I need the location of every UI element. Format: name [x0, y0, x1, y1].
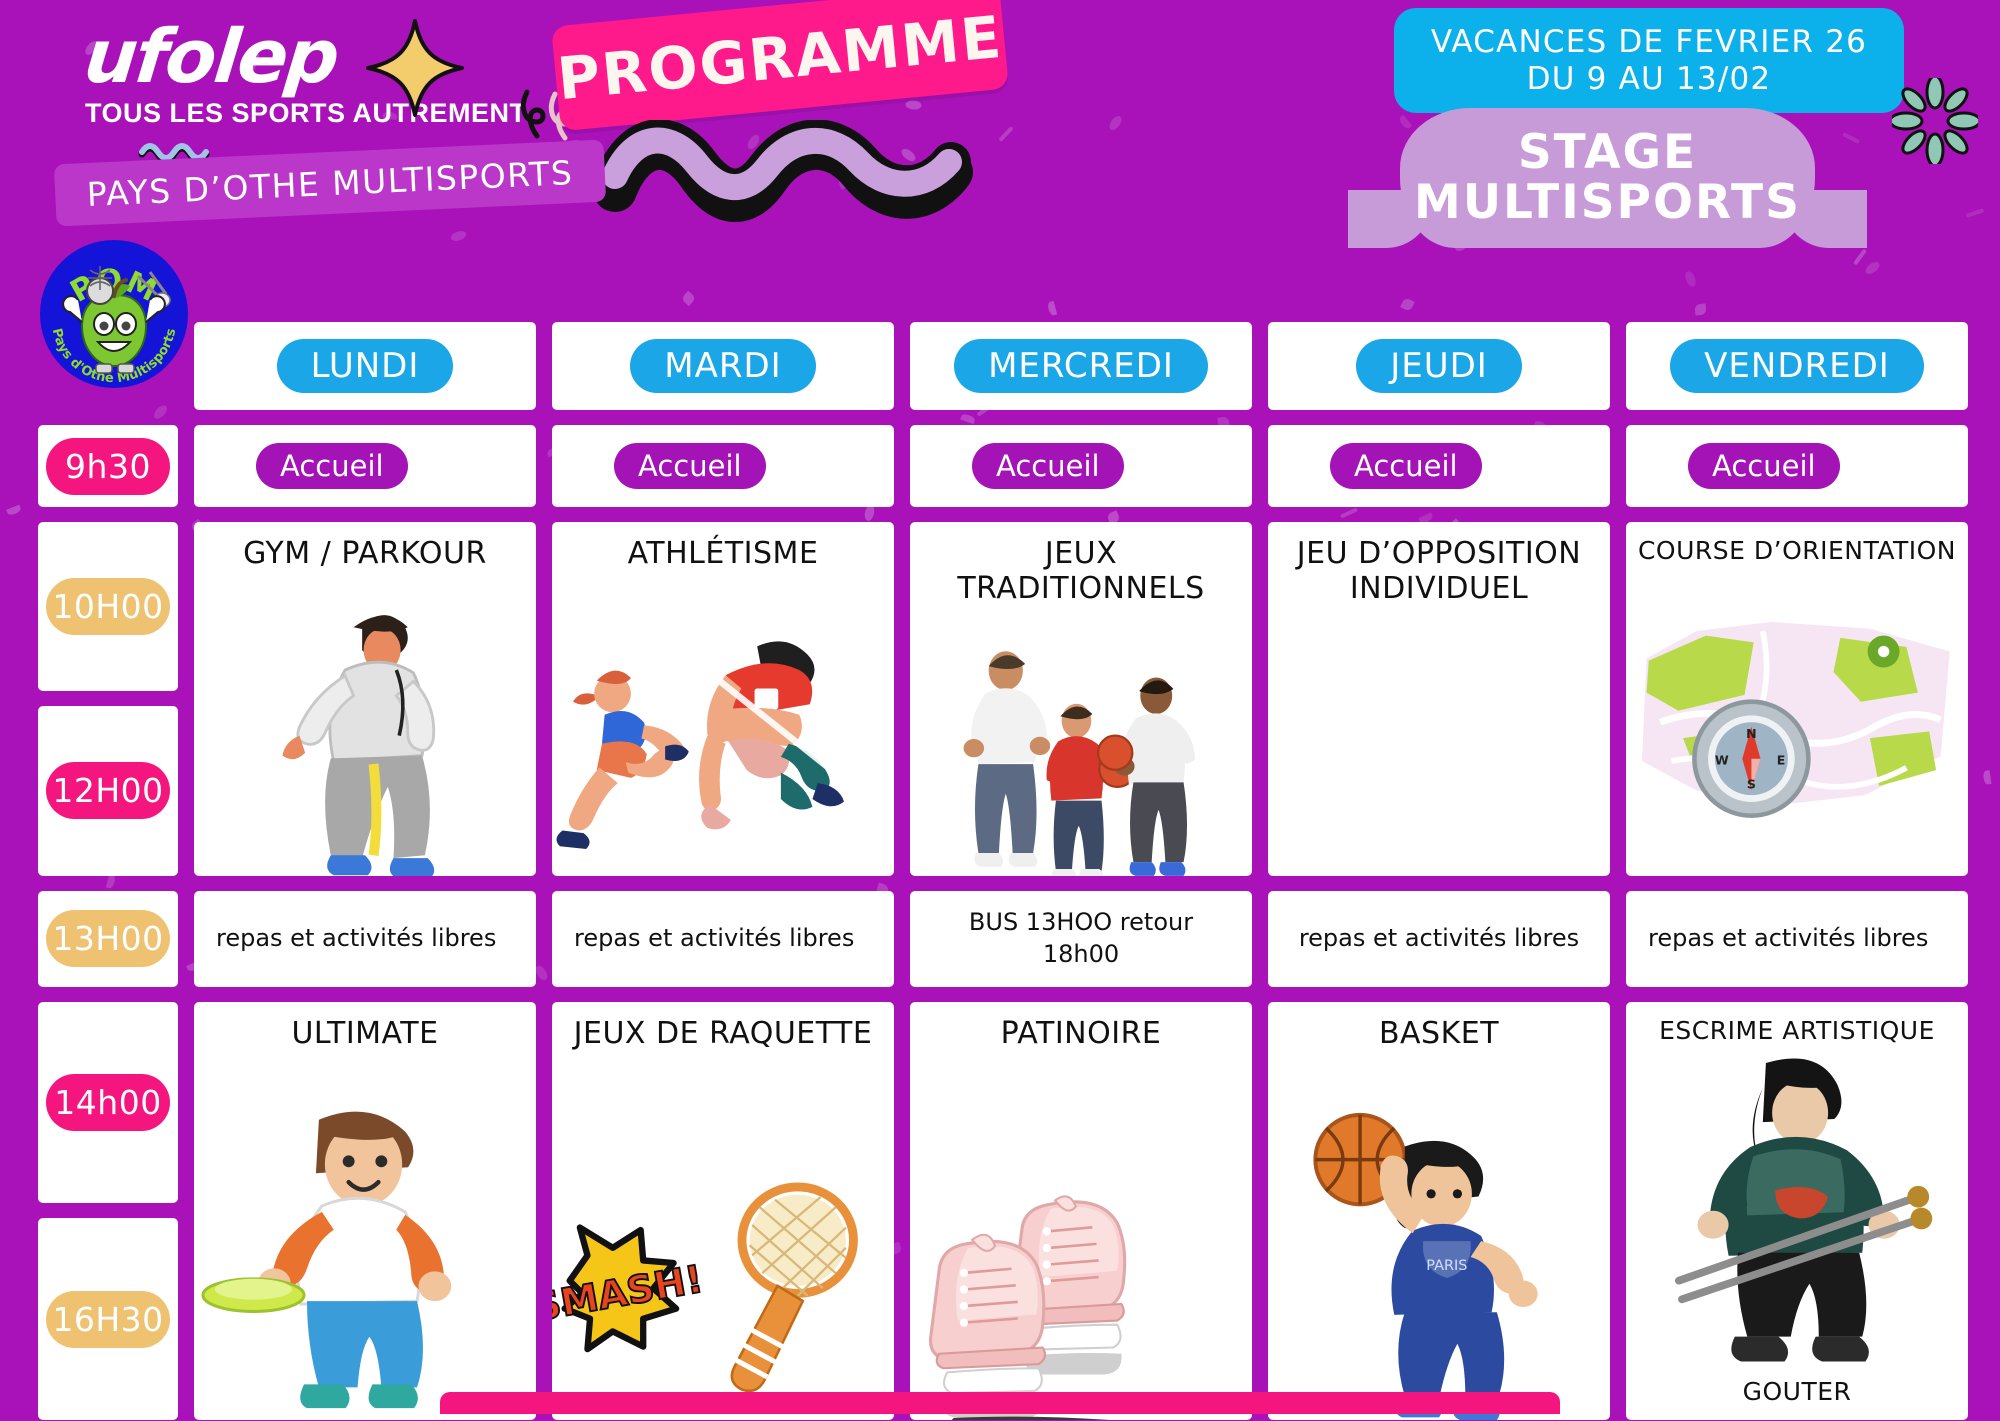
flower-icon [1892, 78, 1978, 164]
programme-banner: PROGRAMME [551, 0, 1009, 131]
welcome-cell-mardi: Accueil [552, 425, 894, 507]
activity-cell-lundi-morning: GYM / PARKOUR [194, 522, 536, 876]
club-band: PAYS D’OTHE MULTISPORTS [54, 140, 606, 227]
poster-header: ufolep TOUS LES SPORTS AUTREMENT PROGRAM… [0, 0, 2000, 320]
time-label: 13H00 [46, 910, 170, 967]
lunch-text: BUS 13HOO retour 18h00 [932, 907, 1230, 969]
welcome-label: Accueil [1688, 443, 1840, 489]
day-header-mardi: MARDI [552, 322, 894, 410]
svg-text:E: E [1777, 752, 1786, 767]
stage-line-1: STAGE [1518, 128, 1697, 178]
day-header-lundi: LUNDI [194, 322, 536, 410]
welcome-label: Accueil [972, 443, 1124, 489]
activity-title: ATHLÉTISME [620, 536, 827, 571]
svg-text:N: N [1746, 726, 1757, 741]
club-band-label: PAYS D’OTHE MULTISPORTS [86, 152, 574, 213]
stage-line-2: MULTISPORTS [1414, 178, 1801, 228]
activity-cell-mardi-morning: ATHLÉTISME [552, 522, 894, 876]
activity-cell-mardi-afternoon: JEUX DE RAQUETTE SMASH! [552, 1002, 894, 1420]
day-label: MARDI [630, 339, 815, 393]
activity-cell-vendredi-morning: COURSE D’ORIENTATION N [1626, 522, 1968, 876]
ultimate-illustration [194, 1051, 536, 1420]
schedule-grid: LUNDI MARDI MERCREDI JEUDI VENDREDI 9h30… [38, 322, 1968, 1420]
opposition-illustration [1268, 607, 1610, 876]
day-label: VENDREDI [1670, 339, 1924, 393]
activity-title: COURSE D’ORIENTATION [1630, 536, 1964, 566]
time-slot-1300: 13H00 [38, 891, 178, 987]
artistic-fencing-illustration [1626, 1045, 1968, 1376]
activity-title: JEUX TRADITIONNELS [910, 536, 1252, 607]
vacation-banner: VACANCES DE FEVRIER 26 DU 9 AU 13/02 [1394, 8, 1904, 113]
day-header-vendredi: VENDREDI [1626, 322, 1968, 410]
welcome-cell-lundi: Accueil [194, 425, 536, 507]
time-slot-1630: 16H30 [38, 1218, 178, 1420]
activity-cell-vendredi-afternoon: ESCRIME ARTISTIQUE [1626, 1002, 1968, 1420]
pom-logo: POM Pays d'Othe Multisports [38, 238, 190, 390]
day-header-mercredi: MERCREDI [910, 322, 1252, 410]
lunch-cell-jeudi: repas et activités libres [1268, 891, 1610, 987]
welcome-label: Accueil [256, 443, 408, 489]
lunch-cell-lundi: repas et activités libres [194, 891, 536, 987]
lunch-text: repas et activités libres [574, 923, 854, 954]
activity-cell-mercredi-afternoon: PATINOIRE [910, 1002, 1252, 1420]
welcome-label: Accueil [1330, 443, 1482, 489]
activity-title: ULTIMATE [283, 1016, 446, 1051]
time-slot-1000: 10H00 [38, 522, 178, 691]
time-label: 9h30 [46, 438, 170, 495]
activity-cell-lundi-afternoon: ULTIMATE [194, 1002, 536, 1420]
day-label: LUNDI [277, 339, 454, 393]
welcome-cell-jeudi: Accueil [1268, 425, 1610, 507]
stage-badge: STAGE MULTISPORTS [1400, 108, 1815, 248]
ice-skating-illustration [910, 1051, 1252, 1420]
day-label: JEUDI [1356, 339, 1522, 393]
traditional-games-illustration [910, 607, 1252, 876]
footer-bar [440, 1392, 1560, 1414]
time-slot-1400: 14h00 [38, 1002, 178, 1204]
svg-text:W: W [1715, 752, 1729, 767]
activity-title: ESCRIME ARTISTIQUE [1651, 1016, 1943, 1046]
racket-games-illustration: SMASH! [552, 1051, 894, 1420]
activity-title: JEUX DE RAQUETTE [566, 1016, 881, 1051]
svg-text:PARIS: PARIS [1426, 1258, 1467, 1274]
activity-title: PATINOIRE [993, 1016, 1170, 1051]
wave-blob-icon [595, 120, 975, 235]
welcome-label: Accueil [614, 443, 766, 489]
activity-title: GYM / PARKOUR [235, 536, 495, 571]
vacation-line-2: DU 9 AU 13/02 [1527, 61, 1772, 98]
time-slot-morning-range: 10H00 12H00 [38, 522, 178, 876]
svg-text:S: S [1747, 776, 1756, 791]
time-slot-1200: 12H00 [38, 706, 178, 875]
lunch-cell-mardi: repas et activités libres [552, 891, 894, 987]
time-label: 12H00 [46, 762, 170, 819]
welcome-cell-vendredi: Accueil [1626, 425, 1968, 507]
lunch-cell-vendredi: repas et activités libres [1626, 891, 1968, 987]
vacation-line-1: VACANCES DE FEVRIER 26 [1431, 24, 1867, 61]
star-icon [365, 18, 465, 118]
activity-title: BASKET [1371, 1016, 1507, 1051]
activity-title: JEU D’OPPOSITION INDIVIDUEL [1268, 536, 1610, 607]
lunch-cell-mercredi: BUS 13HOO retour 18h00 [910, 891, 1252, 987]
time-slot-afternoon-range: 14h00 16H30 [38, 1002, 178, 1420]
basketball-illustration: PARIS [1268, 1051, 1610, 1420]
programme-label: PROGRAMME [554, 2, 1005, 113]
orienteering-illustration: N S W E [1626, 566, 1968, 876]
time-slot-0930: 9h30 [38, 425, 178, 507]
lunch-text: repas et activités libres [1648, 923, 1928, 954]
time-label: 14h00 [46, 1074, 170, 1131]
time-label: 10H00 [46, 578, 170, 635]
lunch-text: repas et activités libres [1299, 923, 1579, 954]
activity-cell-jeudi-afternoon: BASKET PARIS [1268, 1002, 1610, 1420]
activity-cell-jeudi-morning: JEU D’OPPOSITION INDIVIDUEL [1268, 522, 1610, 876]
day-label: MERCREDI [954, 339, 1208, 393]
lunch-text: repas et activités libres [216, 923, 496, 954]
parkour-illustration [194, 571, 536, 875]
activity-cell-mercredi-morning: JEUX TRADITIONNELS [910, 522, 1252, 876]
time-label: 16H30 [46, 1291, 170, 1348]
welcome-cell-mercredi: Accueil [910, 425, 1252, 507]
day-header-jeudi: JEUDI [1268, 322, 1610, 410]
athletics-illustration [552, 571, 894, 875]
